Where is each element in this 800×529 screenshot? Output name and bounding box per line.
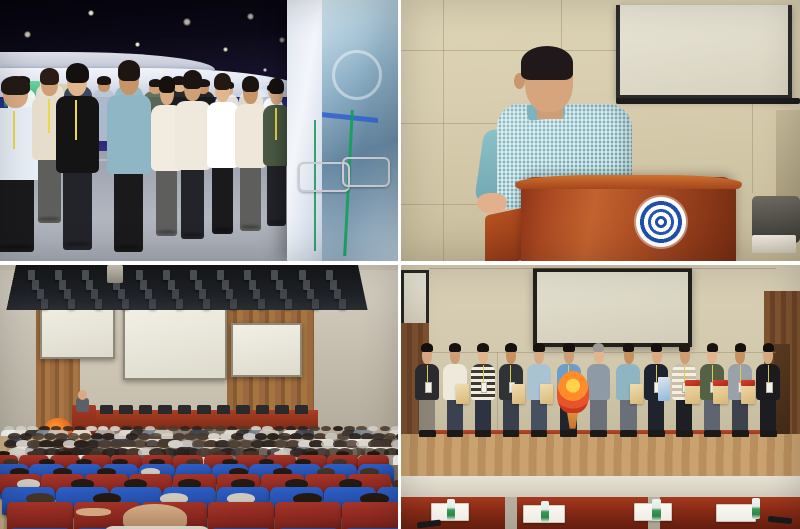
recipient-hair-6 [593,343,604,352]
wall-seam-v3 [752,99,753,193]
head-chair-4 [178,405,192,414]
recipient-shoes-10 [704,430,721,437]
handrail-right [342,157,390,187]
speaker-hand [477,193,507,213]
ceiling-light-1-9 [276,280,283,290]
name-card-3 [716,504,756,522]
audience-head-far-1-2 [32,433,44,440]
front-table-gap-1 [505,497,517,529]
ceiling-light-1-2 [86,280,93,290]
visitor-lanyard-1 [48,99,50,132]
photo-collage [0,0,800,529]
ceiling-light-2-9 [280,289,287,299]
recipient-shoes-1 [447,430,464,437]
head-chair-7 [236,405,250,414]
head-chair-10 [295,405,309,414]
visitor-torso-5 [175,101,211,170]
recipient-shoes-2 [475,430,492,437]
certificate-1 [456,384,469,404]
visitor-legs-4 [156,164,177,236]
podium-top-edge [515,175,742,189]
visitor-torso-3 [107,95,151,174]
audience-head-far-1-18 [220,433,232,440]
audience-head-far-0-26 [309,426,319,432]
audience-head-far-0-17 [204,426,214,432]
ceiling-light-2-3 [118,289,125,299]
audience-head-far-0-9 [110,426,120,432]
ceiling-spotlight-4 [223,47,228,52]
ceiling-light-1-8 [249,280,256,290]
audience-head-far-1-32 [384,433,396,440]
projection-screen-center [123,305,227,380]
recipient-badge-0 [425,382,432,393]
audience-head-far-0-31 [368,426,378,432]
visitor-hair-6 [214,73,231,90]
recipient-shoes-9 [676,430,693,437]
recipient-hair-2 [477,343,488,352]
visitor-shadow-6 [213,228,233,232]
ceiling-light-0-9 [271,270,278,280]
ceiling-light-3-0 [41,299,48,309]
ceiling-light-3-3 [122,299,129,309]
audience-head-far-1-22 [267,433,279,440]
ceiling-light-0-0 [28,270,35,280]
audience-head-far-1-15 [184,433,196,440]
seat-R-4-4 [275,502,341,529]
ceiling-light-2-10 [307,289,314,299]
seat-R-4-3 [208,502,274,529]
head-chair-6 [217,405,231,414]
head-chair-3 [158,405,172,414]
ceiling-light-0-1 [55,270,62,280]
recipient-shoes-7 [620,430,637,437]
audience-head-far-1-20 [243,433,255,440]
visitor-hair-2 [66,63,89,83]
visitor-lanyard-0 [13,111,15,149]
stage-speaker-head [78,390,87,400]
ceiling-light-0-7 [217,270,224,280]
visitor-torso-2 [56,96,100,173]
display-glass [322,0,398,261]
visitor-legs-2 [63,166,92,250]
certificate-7 [630,384,643,404]
recipient-hair-12 [763,343,774,352]
visitor-hair-8 [269,78,283,94]
tl-scene [0,0,398,261]
stacked-papers [752,235,796,253]
certificate-4 [540,384,553,404]
audience-head-far-0-15 [180,426,190,432]
recipient-hair-0 [421,343,432,352]
audience-seating [0,423,398,529]
ceiling-light-3-6 [203,299,210,309]
stage-speaker-body [76,398,89,412]
visitor-hair-7 [242,76,259,93]
wall-seam-h1 [401,50,616,51]
ceiling-light-1-0 [32,280,39,290]
ceiling-light-3-8 [258,299,265,309]
folder-blue-8 [658,377,670,401]
recipient-shoes-8 [648,430,665,437]
ceiling-light-3-1 [68,299,75,309]
audience-head-far-1-19 [231,433,243,440]
recipient-hair-9 [679,343,690,352]
wall-seam-v1 [443,0,444,261]
visitor-lanyard-8 [275,108,277,140]
ceiling-light-2-0 [37,289,44,299]
visitor-shadow-5 [182,233,204,237]
water-bottle-0 [447,499,455,520]
exhibition-hall-tour-photo [0,0,398,261]
ceiling-light-1-6 [195,280,202,290]
audience-head-far-0-27 [321,426,331,432]
ceiling-spotlight-5 [247,13,254,20]
visitor-hair-5 [183,70,202,88]
recipient-hair-5 [563,343,574,352]
speaker-at-podium-photo [401,0,800,261]
ceiling-spotlight-6 [279,37,285,43]
ceiling-light-2-4 [145,289,152,299]
visitor-legs-0 [0,173,34,252]
recipient-hair-11 [735,343,746,352]
ceiling-light-1-11 [330,280,337,290]
ceiling-light-0-5 [163,270,170,280]
audience-head-far-0-14 [168,426,178,432]
projection-screen [616,5,792,99]
visitor-hair-4 [159,76,176,93]
recipient-hair-3 [505,343,516,352]
ceiling-light-2-8 [253,289,260,299]
certificate-red-top-11 [741,380,756,386]
visitor-legs-7 [240,162,261,232]
ceiling-light-2-11 [334,289,341,299]
foreground-hand [76,508,112,516]
projection-screen-right [231,323,303,377]
ceiling-light-0-4 [136,270,143,280]
audience-head-far-1-5 [67,433,79,440]
ceiling-light-0-2 [82,270,89,280]
visitor-back-hair-3 [97,76,111,84]
ceiling-light-2-7 [226,289,233,299]
ceiling-light-3-7 [230,299,237,309]
recipient-badge-2 [481,382,488,393]
ceiling-pendant [107,265,123,283]
audience-head-far-0-5 [63,426,73,432]
bouquet-flowers [557,371,589,413]
ceiling-spotlight-12 [263,68,267,72]
recipient-shoes-3 [503,430,520,437]
audience-head-far-1-1 [20,433,32,440]
ceiling-light-0-11 [326,270,333,280]
ceiling-light-1-4 [140,280,147,290]
visitor-hair-1 [40,68,59,85]
visitor-hair-0 [1,76,30,95]
auditorium-audience-photo [0,265,398,529]
audience-head-far-1-33 [396,433,398,440]
ceiling-light-3-4 [149,299,156,309]
recipient-lanyard-2 [483,365,484,383]
visitor-hair-3 [118,60,141,81]
ceiling-light-1-7 [222,280,229,290]
visitor-legs-8 [267,160,285,226]
audience-head-far-0-32 [380,426,390,432]
head-chair-1 [119,405,133,414]
recipient-lanyard-0 [427,365,428,383]
visitor-legs-5 [181,164,205,240]
audience-head-far-0-28 [333,426,343,432]
recipient-hair-8 [651,343,662,352]
recipient-lanyard-12 [768,365,769,383]
recipient-hair-10 [707,343,718,352]
screen-bottom-bar [616,98,800,105]
ceiling-light-2-6 [199,289,206,299]
side-projection-screen [401,270,429,328]
ceiling-light-3-9 [285,299,292,309]
recipient-lanyard-8 [656,365,657,383]
audience-head-far-0-7 [86,426,96,432]
ceiling-light-1-5 [168,280,175,290]
recipient-shoes-4 [531,430,548,437]
display-ring-graphic [332,50,382,100]
br-wall-seam-3 [497,352,498,431]
head-chair-5 [197,405,211,414]
ceiling-light-0-8 [244,270,251,280]
wooden-podium [521,177,736,261]
speaker-hair [521,46,573,80]
visitor-lanyard-2 [75,100,77,140]
audience-head-far-0-23 [274,426,284,432]
water-bottle-2 [652,499,660,520]
ceiling-light-3-10 [312,299,319,309]
recipient-shoes-11 [732,430,749,437]
recipient-shoes-12 [760,430,777,437]
water-bottle-3 [752,498,760,519]
visitor-legs-3 [114,166,143,252]
ceiling-light-1-1 [59,280,66,290]
recipient-shoes-0 [419,430,436,437]
br-scene [401,265,800,529]
br-wall-seam-1 [429,268,776,269]
recipient-hair-4 [533,343,544,352]
water-bottle-1 [541,501,549,522]
certificate-red-top-9 [685,380,700,386]
certificate-red-top-10 [713,380,728,386]
recipient-hair-1 [449,343,460,352]
head-chair-2 [139,405,153,414]
seat-R-4-5 [342,502,398,529]
recipient-hair-7 [623,343,634,352]
seat-R-4-0 [7,502,73,529]
bl-scene [0,265,398,529]
ceiling-light-2-1 [64,289,71,299]
stage-projection-screen [533,268,693,347]
group-award-photo [401,265,800,529]
certificate-3 [512,384,525,404]
recipient-badge-12 [766,382,773,393]
visitor-torso-7 [235,104,267,168]
ceiling-light-3-11 [339,299,346,309]
recipient-lanyard-3 [510,365,511,383]
ceiling-light-3-5 [176,299,183,309]
head-chair-0 [100,405,114,414]
ceiling-light-1-10 [303,280,310,290]
audience-body-far-3-33 [393,455,398,465]
visitor-shadow-3 [115,245,142,249]
ceiling-light-0-6 [190,270,197,280]
ceiling-light-2-2 [91,289,98,299]
recipient-shoes-5 [560,430,577,437]
audience-head-far-1-10 [126,433,138,440]
ceiling-light-3-2 [95,299,102,309]
head-chair-8 [256,405,270,414]
tr-scene [401,0,800,261]
visitor-legs-6 [212,162,233,234]
stage-floor [401,434,800,479]
ceiling-light-2-5 [172,289,179,299]
audience-head-far-1-27 [325,433,337,440]
head-chair-9 [275,405,289,414]
ceiling-light-0-10 [299,270,306,280]
audience-head-far-1-21 [255,433,267,440]
recipient-torso-6 [587,364,611,400]
recipient-shoes-6 [590,430,607,437]
audience-head-far-1-14 [173,433,185,440]
